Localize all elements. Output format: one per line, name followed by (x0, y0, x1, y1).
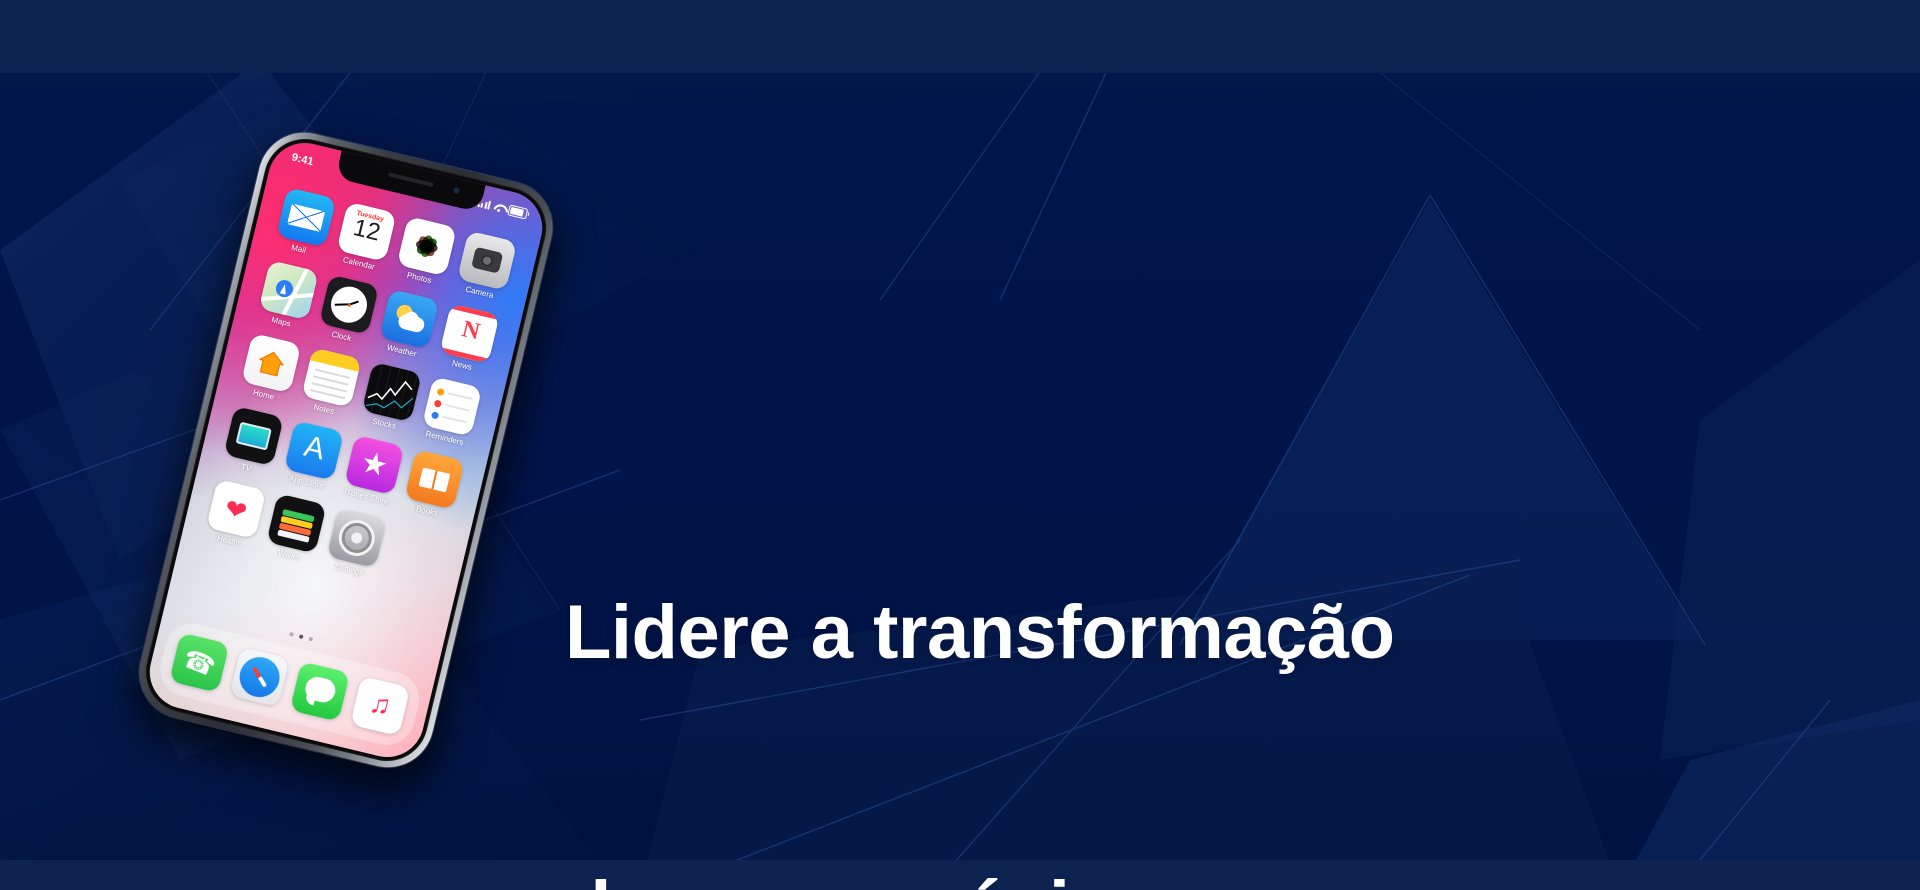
app-label: Wallet (277, 548, 300, 562)
wallet-icon (266, 493, 326, 553)
app-label: TV (240, 462, 252, 473)
page-title: Lidere a transformação do seu negócio (565, 403, 1395, 890)
app-icon-books[interactable]: Books (396, 448, 471, 523)
tv-icon (224, 406, 284, 466)
app-store-icon: A (284, 420, 344, 480)
phone-icon[interactable]: ☎ (169, 632, 229, 692)
house-glyph (256, 347, 287, 378)
page-dot-active (299, 634, 304, 639)
calendar-icon: Tuesday 12 (336, 202, 396, 262)
notes-icon (301, 347, 361, 407)
health-icon: ❤ (206, 479, 266, 539)
music-icon[interactable]: ♫ (350, 676, 410, 736)
app-label: Stocks (371, 417, 396, 431)
safari-icon[interactable] (229, 647, 289, 707)
photos-icon (397, 216, 457, 276)
news-icon: N (439, 303, 499, 363)
app-icon-camera[interactable]: Camera (448, 229, 523, 304)
hero-banner: Lidere a transformação do seu negócio 9:… (0, 0, 1920, 890)
app-label: Home (252, 388, 275, 402)
app-label: News (451, 359, 473, 372)
maps-icon (259, 260, 319, 320)
top-band (0, 0, 1920, 73)
app-label: Health (216, 534, 241, 548)
page-dot (308, 637, 313, 642)
camera-icon (457, 231, 517, 291)
page-dot (289, 632, 294, 637)
stocks-icon (362, 362, 422, 422)
battery-icon (507, 204, 528, 219)
app-icon-news[interactable]: N News (431, 302, 506, 377)
app-icon-reminders[interactable]: Reminders (413, 375, 488, 450)
headline-line-2: do seu negócio (565, 863, 1395, 890)
app-label: Mail (290, 243, 306, 255)
app-label: Notes (313, 402, 335, 416)
mail-icon (276, 187, 336, 247)
reminders-icon (422, 376, 482, 436)
weather-icon (379, 289, 439, 349)
stocks-line-glyph (362, 362, 422, 422)
books-icon (404, 449, 464, 509)
cellular-signal-icon (477, 198, 491, 210)
status-bar-time: 9:41 (290, 151, 314, 168)
home-icon (241, 333, 301, 393)
clock-icon (319, 275, 379, 335)
headline-line-1: Lidere a transformação (565, 587, 1395, 679)
itunes-store-icon: ★ (344, 435, 404, 495)
messages-icon[interactable] (290, 661, 350, 721)
app-label: Maps (271, 315, 292, 328)
wifi-icon (493, 201, 506, 212)
app-label: Books (415, 504, 439, 518)
settings-icon (327, 508, 387, 568)
app-icon-settings[interactable]: Settings (318, 506, 393, 581)
app-label: Clock (331, 330, 353, 343)
app-label: Photos (406, 271, 432, 286)
